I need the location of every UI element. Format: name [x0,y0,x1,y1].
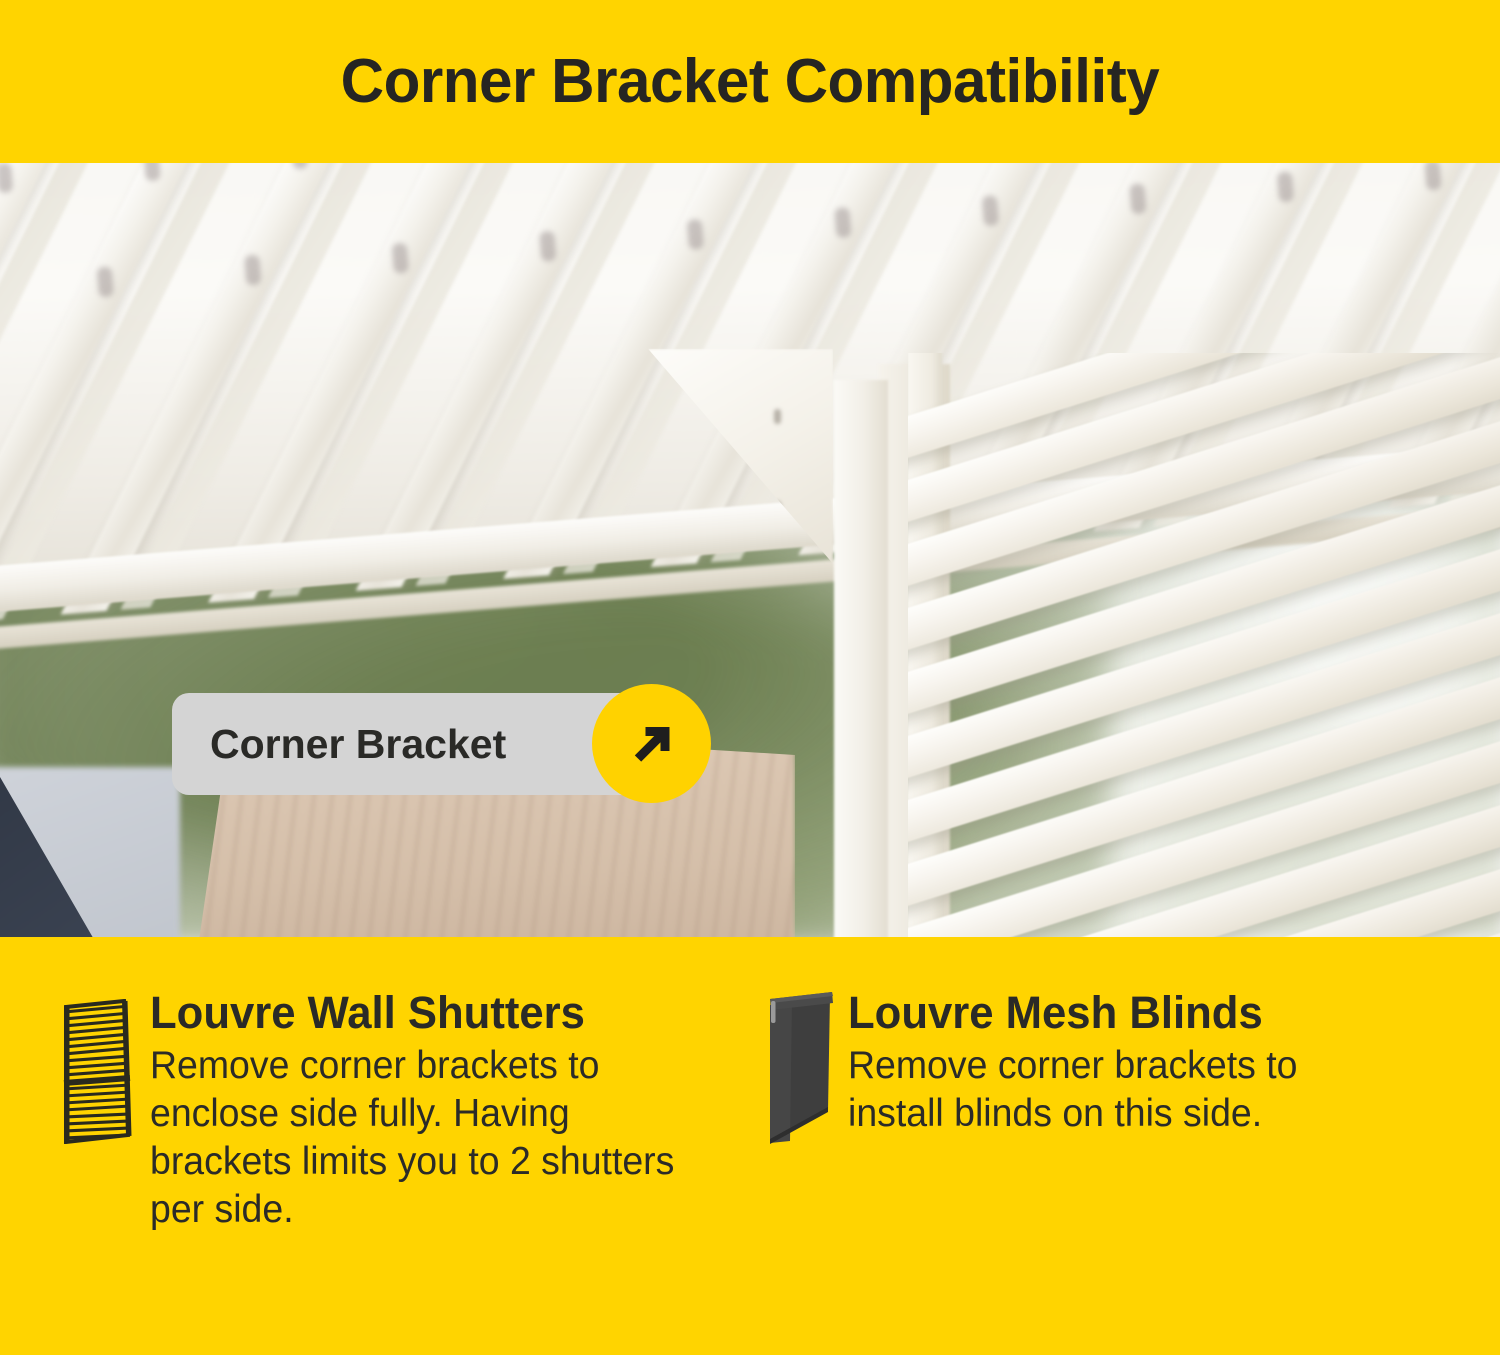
card-description: Remove corner brackets to enclose side f… [150,1042,680,1234]
header-band: Corner Bracket Compatibility [0,0,1500,163]
callout-label: Corner Bracket [210,724,506,765]
roof-blade-clip [143,163,160,181]
card-louvre-mesh-blinds: Louvre Mesh Blinds Remove corner bracket… [760,989,1400,1138]
pergola-photo: Corner Bracket [0,163,1500,937]
callout-arrow-button[interactable] [592,684,711,803]
roof-blade-clip [687,219,704,250]
card-body: Louvre Mesh Blinds Remove corner bracket… [848,989,1400,1138]
roller-blind-icon [762,991,838,1149]
roof-blade-clip [834,207,851,238]
card-heading: Louvre Mesh Blinds [848,989,1383,1036]
bottom-panel: Louvre Wall Shutters Remove corner brack… [0,937,1500,1355]
corner-post [834,380,888,937]
card-body: Louvre Wall Shutters Remove corner brack… [150,989,702,1234]
roof-blade-clip [539,231,556,262]
louvre-wall-shutters [908,353,1500,937]
bracket-bolt [774,409,781,424]
roof-blade-clip [244,254,261,285]
card-description: Remove corner brackets to install blinds… [848,1042,1378,1138]
roof-blade-clip [982,195,999,226]
callout-pill[interactable]: Corner Bracket [172,693,640,795]
infographic-root: Corner Bracket Compatibility Corner Brac… [0,0,1500,1355]
roof-blade-clip [97,266,114,297]
roof-blade-clip [1424,163,1441,191]
page-title: Corner Bracket Compatibility [341,51,1160,113]
roof-blade-clip [1129,183,1146,214]
roof-blade-clip [1277,171,1294,202]
corner-bracket-callout[interactable]: Corner Bracket [172,693,640,795]
roof-blade-clip [0,163,13,193]
compatibility-cards: Louvre Wall Shutters Remove corner brack… [0,937,1500,1355]
louvre-shutter-panel-icon [62,999,134,1144]
card-heading: Louvre Wall Shutters [150,989,685,1036]
roof-blade-clip [392,243,409,274]
card-louvre-wall-shutters: Louvre Wall Shutters Remove corner brack… [62,989,702,1234]
arrow-up-right-icon [621,713,683,775]
